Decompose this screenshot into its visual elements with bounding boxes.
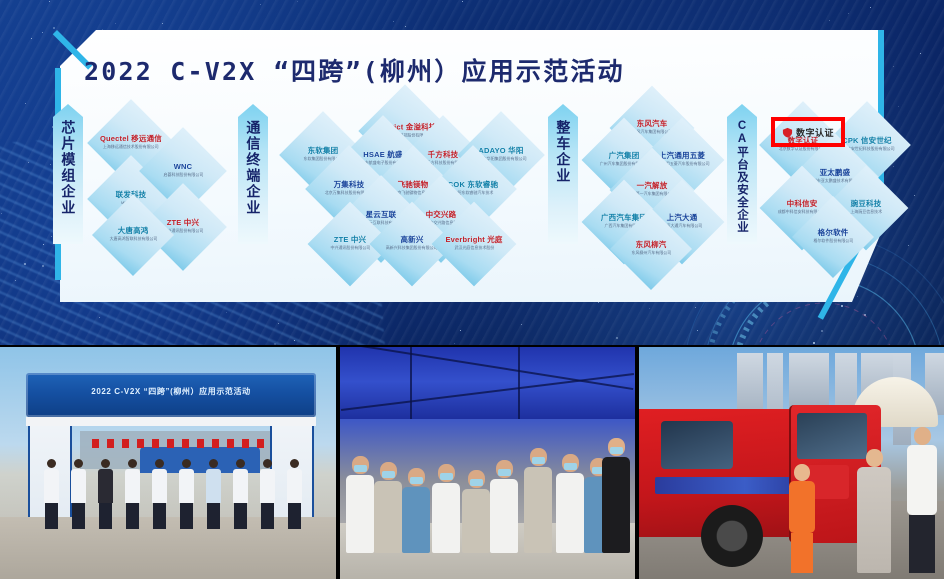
star [115, 23, 116, 24]
logo-company-name: 东风柳州汽车有限公司 [631, 252, 671, 257]
attendee-torso [602, 457, 630, 553]
star [51, 236, 52, 237]
face-mask-icon [610, 447, 623, 454]
star [864, 314, 866, 316]
attendee-torso [490, 479, 518, 553]
category-label-ca-security: CA平台及安全企业 [736, 120, 748, 234]
logo-diamond-content: Everbright 光庭武汉光庭信息技术股份 [446, 236, 501, 251]
star [649, 308, 650, 309]
red-shield-icon [782, 127, 793, 138]
category-banner-comm-terminal: 通信终端企业 [238, 104, 268, 244]
attendee-torso [152, 469, 167, 503]
star [31, 38, 32, 39]
star [521, 324, 522, 325]
attendee-head [236, 459, 245, 468]
star [821, 330, 823, 332]
star [28, 162, 29, 163]
logo-company-name: 高新兴科技集团股份有限公司 [386, 247, 438, 252]
ceremony-attendee [98, 459, 113, 529]
star [162, 23, 163, 24]
logo-diamond-content: 大唐高鸿大唐高鸿智联科技有限公司 [106, 227, 159, 242]
attendee-head [438, 464, 455, 482]
masked-attendee [432, 464, 460, 553]
attendee-head [468, 470, 485, 488]
woman-visitor [857, 449, 891, 573]
face-mask-icon [440, 473, 453, 480]
child-visitor [789, 464, 815, 573]
logo-wordmark: 中交兴路 [426, 211, 457, 219]
star [226, 312, 227, 313]
attendee-legs [126, 503, 139, 529]
attendee-head [408, 468, 425, 486]
attendee-head [182, 459, 191, 468]
star [99, 317, 100, 318]
star [454, 343, 455, 344]
attendee-head [155, 459, 164, 468]
category-label-vehicle-oem: 整车企业 [556, 120, 571, 184]
star [274, 343, 276, 345]
logo-company-name: 大唐高鸿智联科技有限公司 [109, 238, 157, 243]
attendee-torso [44, 469, 59, 503]
masked-attendee [556, 454, 584, 553]
attendee-head [47, 459, 56, 468]
attendee-torso [206, 469, 221, 503]
logo-wordmark: 豌豆科技 [851, 200, 882, 208]
attendee-head [496, 460, 513, 478]
logo-wordmark: CPK 信安世纪 [842, 137, 892, 145]
logo-wordmark: ZTE 中兴 [334, 236, 366, 244]
attendee-torso [432, 483, 460, 553]
child-head [794, 464, 810, 481]
attendee-torso [287, 469, 302, 503]
logo-wordmark: Everbright 光庭 [445, 236, 502, 244]
attendee-legs [207, 503, 220, 529]
logo-wordmark: 亚太鹏盛 [820, 169, 851, 177]
canopy-pole [410, 347, 412, 419]
attendee-torso [98, 469, 113, 503]
logo-wordmark: 大唐高鸿 [118, 227, 149, 235]
category-banner-vehicle-oem: 整车企业 [548, 104, 578, 244]
star [697, 330, 698, 331]
masked-attendee [374, 462, 402, 553]
attendee-head [101, 459, 110, 468]
logo-company-name: 上海移远通信技术股份有限公司 [103, 146, 159, 151]
logo-wordmark: 东风柳汽 [636, 241, 667, 249]
event-poster: 2022 C-V2X “四跨”(柳州）应用示范活动 芯片模组企业 通信终端企业 … [0, 0, 944, 345]
attendee-legs [180, 503, 193, 529]
attendee-torso [462, 489, 490, 553]
logo-company-name: 格尔软件股份有限公司 [813, 240, 853, 245]
attendee-legs [261, 503, 274, 529]
masked-attendee [524, 448, 552, 553]
logo-wordmark: 上汽大通 [667, 214, 698, 222]
star [43, 244, 44, 245]
star [462, 1, 463, 2]
star [294, 340, 295, 341]
attendee-head [380, 462, 397, 480]
logo-wordmark: 飞驰镁物 [398, 181, 429, 189]
ceremony-attendee [233, 459, 248, 529]
face-mask-icon [354, 465, 367, 472]
woman-torso [857, 467, 891, 573]
star [870, 7, 871, 8]
attendee-head [608, 438, 625, 456]
attendee-legs [153, 503, 166, 529]
man-visitor [907, 427, 937, 573]
face-mask-icon [382, 471, 395, 478]
star [24, 263, 26, 265]
logo-wordmark: 万集科技 [334, 181, 365, 189]
logo-wordmark: 广汽集团 [609, 152, 640, 160]
star [260, 4, 261, 5]
star [616, 337, 618, 339]
masked-attendee [462, 470, 490, 553]
face-mask-icon [498, 469, 511, 476]
logo-wordmark: ADAYO 华阳 [478, 147, 523, 155]
ceremony-attendee [44, 459, 59, 529]
attendee-legs [99, 503, 112, 529]
star [278, 323, 279, 324]
attendee-torso [71, 469, 86, 503]
star [42, 265, 44, 267]
attendee-legs [72, 503, 85, 529]
man-torso [907, 445, 937, 515]
logo-wordmark: HSAE 航盛 [363, 151, 402, 159]
child-torso [789, 481, 815, 533]
ceremony-attendee [206, 459, 221, 529]
arch-lower-bar [26, 417, 316, 426]
logo-wordmark: 星云互联 [366, 211, 397, 219]
star [920, 53, 921, 54]
arch-banner: 2022 C-V2X “四跨”(柳州）应用示范活动 [26, 373, 316, 417]
photo-vehicle-demo [639, 347, 944, 579]
category-label-chip-module: 芯片模组企业 [61, 120, 76, 216]
logo-diamond-content: WNC启碁科技股份有限公司 [154, 163, 211, 178]
masked-attendee [346, 456, 374, 553]
star [49, 1, 50, 2]
attendee-head [128, 459, 137, 468]
attendee-legs [45, 503, 58, 529]
face-mask-icon [564, 463, 577, 470]
star [25, 103, 26, 104]
logo-wordmark: 东风汽车 [637, 120, 668, 128]
ceremony-attendee [125, 459, 140, 529]
masked-attendee [402, 468, 430, 553]
attendee-torso [402, 487, 430, 553]
star [908, 245, 909, 246]
man-legs [909, 515, 935, 573]
photo-opening-ceremony: 2022 C-V2X “四跨”(柳州）应用示范活动 [0, 347, 336, 579]
attendee-head [74, 459, 83, 468]
logo-wordmark: Quectel 移远通信 [100, 135, 162, 143]
logo-diamond-content: 东风柳汽东风柳州汽车有限公司 [624, 241, 677, 256]
attendee-torso [374, 481, 402, 553]
highlighted-logo-label: 数字认证 [796, 126, 834, 139]
arch-banner-text: 2022 C-V2X “四跨”(柳州）应用示范活动 [26, 386, 316, 397]
suv-wheel [701, 505, 763, 567]
attendee-torso [179, 469, 194, 503]
star [53, 27, 55, 29]
photo-strip: 2022 C-V2X “四跨”(柳州）应用示范活动 [0, 347, 944, 579]
logo-wordmark: 上汽通用五菱 [659, 152, 705, 160]
logo-wordmark: ZTE 中兴 [167, 219, 199, 227]
attendee-torso [125, 469, 140, 503]
logo-wordmark: 千方科技 [428, 151, 459, 159]
logo-wordmark: WNC [174, 163, 193, 171]
attendee-torso [524, 467, 552, 553]
star [893, 66, 894, 67]
star [857, 296, 858, 297]
star [405, 26, 406, 27]
skyline-tower [789, 353, 829, 411]
star [15, 280, 16, 281]
logo-wordmark: 东软集团 [308, 147, 339, 155]
logo-company-name: 上海豌豆信息技术 [850, 211, 882, 216]
category-banner-chip-module: 芯片模组企业 [53, 104, 83, 244]
attendee-torso [556, 473, 584, 553]
highlighted-logo-digital-certification[interactable]: 数字认证 [775, 121, 841, 143]
suv-decal-stripe [655, 477, 805, 494]
attendee-head [562, 454, 579, 472]
ceremony-attendee [179, 459, 194, 529]
logo-company-name: 中兴通讯股份有限公司 [330, 247, 370, 252]
star [893, 166, 894, 167]
attendee-head [290, 459, 299, 468]
face-mask-icon [410, 477, 423, 484]
face-mask-icon [470, 479, 483, 486]
star [50, 164, 51, 165]
logo-wordmark: 高新兴 [400, 236, 423, 244]
star [42, 32, 43, 33]
ceremony-attendee [260, 459, 275, 529]
star [914, 195, 915, 196]
attendee-head [530, 448, 547, 466]
star [813, 342, 815, 344]
star [695, 307, 696, 308]
ceremony-attendee [152, 459, 167, 529]
logo-diamond-content: Quectel 移远通信上海移远通信技术股份有限公司 [102, 135, 159, 150]
page-title: 2022 C-V2X “四跨”(柳州）应用示范活动 [84, 52, 844, 88]
attendee-torso [346, 475, 374, 553]
logo-company-name: 启碁科技股份有限公司 [163, 174, 203, 179]
attendee-head [209, 459, 218, 468]
star [460, 330, 461, 331]
attendee-head [263, 459, 272, 468]
logo-wordmark: 格尔软件 [818, 229, 849, 237]
logo-company-name: 武汉光庭信息技术股份 [454, 247, 494, 252]
ceremony-attendee [287, 459, 302, 529]
star [1, 213, 2, 214]
attendee-legs [234, 503, 247, 529]
masked-attendee [602, 438, 630, 553]
face-mask-icon [532, 457, 545, 464]
star [297, 1, 298, 2]
star [841, 305, 843, 307]
man-head [914, 427, 931, 445]
category-label-comm-terminal: 通信终端企业 [246, 120, 261, 216]
poster-screenshot: 2022 C-V2X “四跨”(柳州）应用示范活动 芯片模组企业 通信终端企业 … [0, 0, 944, 579]
logo-diamond-content: 格尔软件格尔软件股份有限公司 [806, 229, 859, 244]
star [898, 106, 899, 107]
attendee-head [352, 456, 369, 474]
category-banner-ca-security: CA平台及安全企业 [727, 104, 757, 244]
logo-wordmark: COK 东软睿驰 [448, 181, 498, 189]
star [848, 13, 849, 14]
logo-wordmark: 中科信安 [787, 200, 818, 208]
attendee-torso [260, 469, 275, 503]
woman-head [866, 449, 883, 467]
star [393, 21, 394, 22]
logo-wordmark: 一汽解放 [637, 182, 668, 190]
canopy-pole [518, 347, 520, 419]
attendee-legs [288, 503, 301, 529]
child-legs [791, 533, 813, 573]
masked-attendee [490, 460, 518, 553]
star [829, 20, 830, 21]
attendee-torso [233, 469, 248, 503]
photo-attendees-queue [340, 347, 635, 579]
ceremony-attendee [71, 459, 86, 529]
suv-front-window [661, 421, 733, 469]
